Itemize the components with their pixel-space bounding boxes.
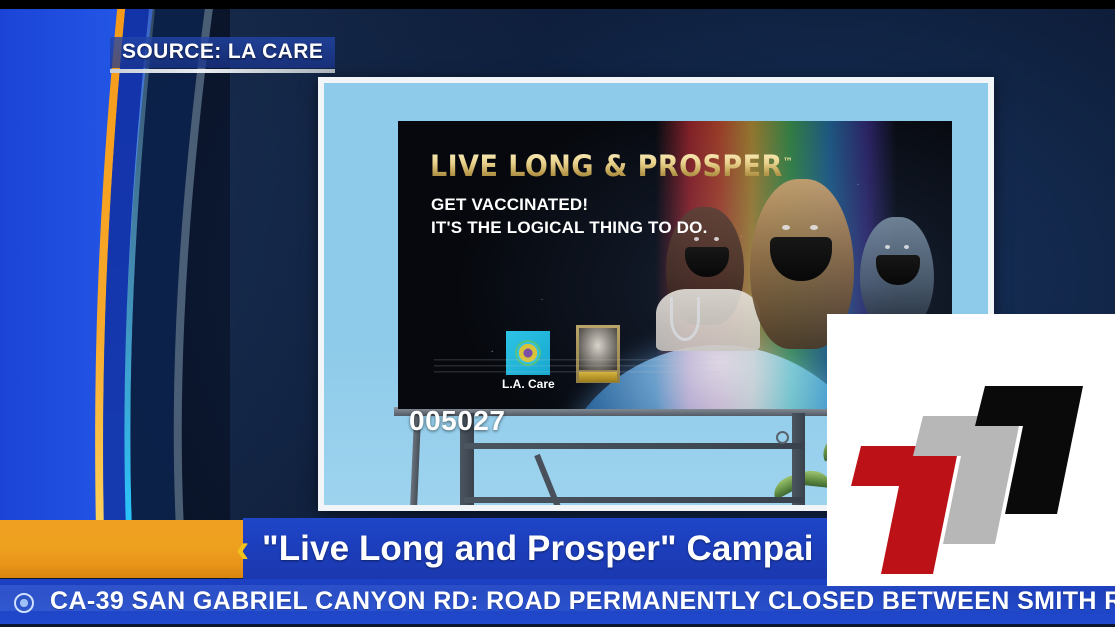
lower-third-orange-block: [0, 520, 245, 578]
broadcast-stage: SOURCE: LA CARE: [0, 0, 1115, 627]
billboard-headline: LIVE LONG & PROSPER™: [430, 149, 793, 183]
source-badge: SOURCE: LA CARE: [110, 37, 335, 73]
left-graphic-panel: [0, 0, 330, 530]
billboard-support-beam-lower: [464, 497, 804, 503]
trademark-symbol: ™: [783, 155, 794, 168]
lower-third-headline: "Live Long and Prosper" Campai: [262, 529, 814, 569]
chevron-left-icon: ‹: [236, 530, 262, 570]
eye-left-man-blue: [885, 245, 890, 249]
eye-right-woman: [810, 225, 818, 230]
ticker-text: CA-39 SAN GABRIEL CANYON RD: ROAD PERMAN…: [50, 587, 1115, 616]
stethoscope-icon: [670, 297, 700, 341]
billboard-panel-number: 005027: [409, 405, 505, 437]
eye-right-doctor: [714, 237, 719, 241]
ttt-logo: [827, 314, 1115, 586]
ttt-logo-t-red: [851, 446, 959, 574]
letterbox-top: [0, 0, 1115, 9]
source-badge-rule: [110, 69, 335, 73]
billboard-subline-2: IT'S THE LOGICAL THING TO DO.: [431, 216, 708, 239]
circle-bullet-icon: [14, 593, 34, 613]
ttt-logo-glyphs: [837, 348, 1107, 578]
eye-left-woman: [782, 225, 790, 230]
news-ticker: CA-39 SAN GABRIEL CANYON RD: ROAD PERMAN…: [0, 579, 1115, 627]
billboard-support-hook: [776, 431, 789, 444]
billboard-support-leg-right: [792, 413, 805, 505]
billboard-subline: GET VACCINATED! IT'S THE LOGICAL THING T…: [431, 193, 708, 239]
source-badge-label: SOURCE: LA CARE: [122, 40, 323, 63]
billboard-subline-1: GET VACCINATED!: [431, 193, 708, 216]
eye-right-man-blue: [904, 245, 909, 249]
la-care-logo-label: L.A. Care: [502, 377, 555, 391]
billboard-fine-print: [434, 359, 724, 375]
billboard-support-beam-upper: [464, 443, 804, 449]
